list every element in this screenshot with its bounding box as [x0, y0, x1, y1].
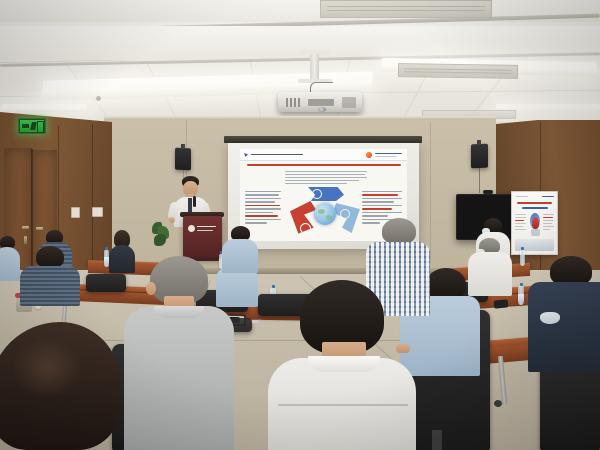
back-wall-top-trim — [104, 116, 496, 120]
ceiling-light-panel-3 — [0, 104, 87, 112]
door-lock-plate — [24, 236, 27, 244]
projector-body — [278, 92, 362, 112]
speaker-right-bracket — [477, 140, 481, 145]
poster-brand-line — [542, 196, 554, 197]
speaker-right-cable — [479, 167, 480, 193]
diagram-icon-bottom — [300, 223, 311, 234]
corporate-round-logo — [366, 152, 372, 158]
attendee-torso — [528, 282, 600, 372]
microphone[interactable] — [193, 196, 196, 207]
poster-graphic — [528, 213, 542, 237]
speaker-left-bracket — [181, 144, 185, 149]
attendee-foreground-white-shirt — [272, 280, 412, 450]
slide-quote-paragraph — [285, 171, 367, 184]
poster-header-line-1 — [517, 202, 552, 204]
chair-back-row-left[interactable] — [86, 274, 126, 292]
exit-icon-door — [37, 121, 44, 133]
diagram-globe — [314, 203, 336, 225]
attendee-front-left-woman — [0, 322, 140, 450]
attendee-hair — [382, 218, 416, 244]
water-bottle-1[interactable] — [104, 250, 109, 267]
poster-text-col-left — [515, 214, 526, 230]
wall-speaker-right — [471, 144, 488, 169]
podium-name-line-2 — [197, 230, 213, 231]
podium-name-line-1 — [197, 226, 216, 227]
ceiling-air-vent-2 — [398, 63, 518, 79]
face-mask-on-desk — [540, 312, 560, 324]
poster-subheader-line — [522, 207, 548, 209]
attendee-torso — [222, 239, 258, 273]
chair-foreground-right-post — [432, 430, 442, 450]
wall-switch-1[interactable] — [71, 207, 80, 218]
smartphone-in-hand[interactable] — [494, 299, 509, 308]
attendee-torso — [124, 306, 234, 450]
attendee-shirt-yoke-seam — [278, 404, 408, 406]
projection-screen-housing — [224, 136, 422, 143]
sprinkler-head — [96, 96, 101, 101]
wall-panel-seam-2 — [430, 122, 431, 262]
slide-logo-text-1 — [375, 153, 402, 154]
attendee-ear — [146, 282, 156, 295]
ceiling-air-vent-1 — [320, 0, 492, 18]
potted-plant — [150, 222, 170, 252]
attendee-row2-lightblue — [222, 226, 258, 274]
podium-emblem — [188, 225, 195, 232]
presenter-tie — [188, 198, 192, 212]
standing-roll-up-poster — [511, 191, 558, 255]
slide-header-mark — [244, 153, 248, 157]
attendee-row2-striped — [20, 246, 80, 302]
exit-icon-arrow — [22, 124, 29, 128]
diagram-icon-right — [340, 209, 350, 219]
attendee-far-right-dark — [520, 256, 600, 376]
attendee-far-left-edge — [0, 236, 22, 282]
conference-room-photo — [0, 0, 600, 450]
attendee-hair-highlight — [12, 338, 82, 398]
projector-lens — [318, 107, 326, 112]
attendee-hair — [36, 246, 64, 268]
slide-title-line — [247, 164, 401, 166]
cyclical-arrow-diagram — [288, 187, 362, 241]
projector-mount-pole — [310, 54, 319, 80]
poster-top-line — [516, 196, 528, 197]
emergency-exit-sign — [18, 118, 46, 134]
slide-left-text-column — [245, 191, 281, 224]
slide-logo-text-2 — [375, 156, 397, 157]
attendee-foreground-grey-hair — [124, 256, 234, 450]
attendee-torso — [0, 247, 20, 281]
wall-switch-2[interactable] — [92, 207, 103, 217]
attendee-collar — [154, 306, 204, 318]
attendee-torso — [20, 266, 80, 306]
diagram-icon-top — [312, 189, 322, 199]
tv-top-camera — [483, 190, 493, 194]
wall-speaker-left — [175, 148, 191, 171]
attendee-collar — [308, 356, 380, 372]
slide-header — [240, 149, 407, 161]
projector-assembly — [272, 50, 372, 112]
desk-caster-4 — [494, 400, 502, 407]
poster-text-col-right — [543, 214, 554, 230]
slide-header-text — [251, 154, 303, 155]
door-handle-left[interactable] — [22, 226, 29, 229]
